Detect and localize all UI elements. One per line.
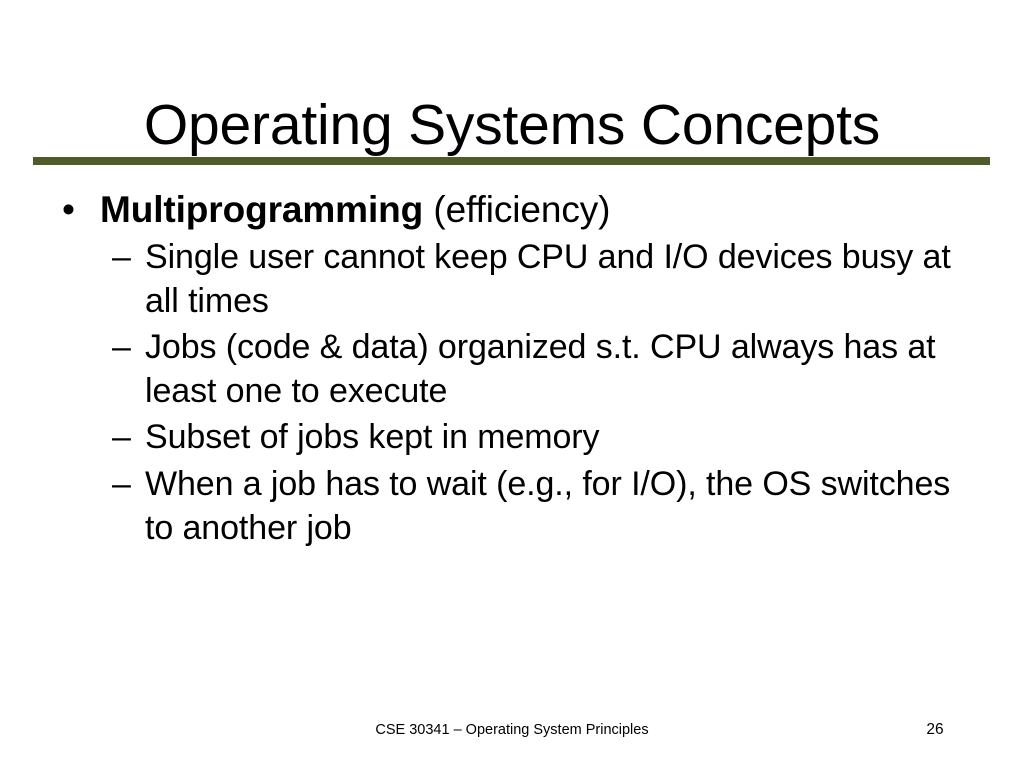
title-divider-rule — [33, 157, 990, 165]
list-item: –When a job has to wait (e.g., for I/O),… — [52, 462, 967, 550]
list-item-level1-lead: Multiprogramming — [100, 189, 423, 230]
dash-marker-icon: – — [112, 415, 131, 459]
list-item: –Subset of jobs kept in memory — [52, 415, 967, 459]
dash-marker-icon: – — [112, 462, 131, 506]
list-item: –Single user cannot keep CPU and I/O dev… — [52, 235, 967, 323]
list-item-text: When a job has to wait (e.g., for I/O), … — [145, 465, 950, 547]
footer-course-note: CSE 30341 – Operating System Principles — [0, 722, 1024, 739]
list-item-text: Jobs (code & data) organized s.t. CPU al… — [145, 328, 936, 410]
footer-page-number: 26 — [905, 721, 965, 740]
list-item-text: Single user cannot keep CPU and I/O devi… — [145, 238, 951, 320]
page-title: Operating Systems Concepts — [33, 95, 991, 157]
list-item-level1-tail: (efficiency) — [423, 189, 610, 230]
slide-canvas: Operating Systems Concepts •Multiprogram… — [0, 0, 1024, 768]
dash-marker-icon: – — [112, 325, 131, 369]
list-item: –Jobs (code & data) organized s.t. CPU a… — [52, 325, 967, 413]
list-item-level1: •Multiprogramming (efficiency) — [52, 188, 967, 232]
bullet-dot-icon: • — [62, 188, 75, 232]
dash-marker-icon: – — [112, 235, 131, 279]
slide-body: •Multiprogramming (efficiency) –Single u… — [52, 188, 967, 552]
list-item-text: Subset of jobs kept in memory — [145, 418, 599, 456]
